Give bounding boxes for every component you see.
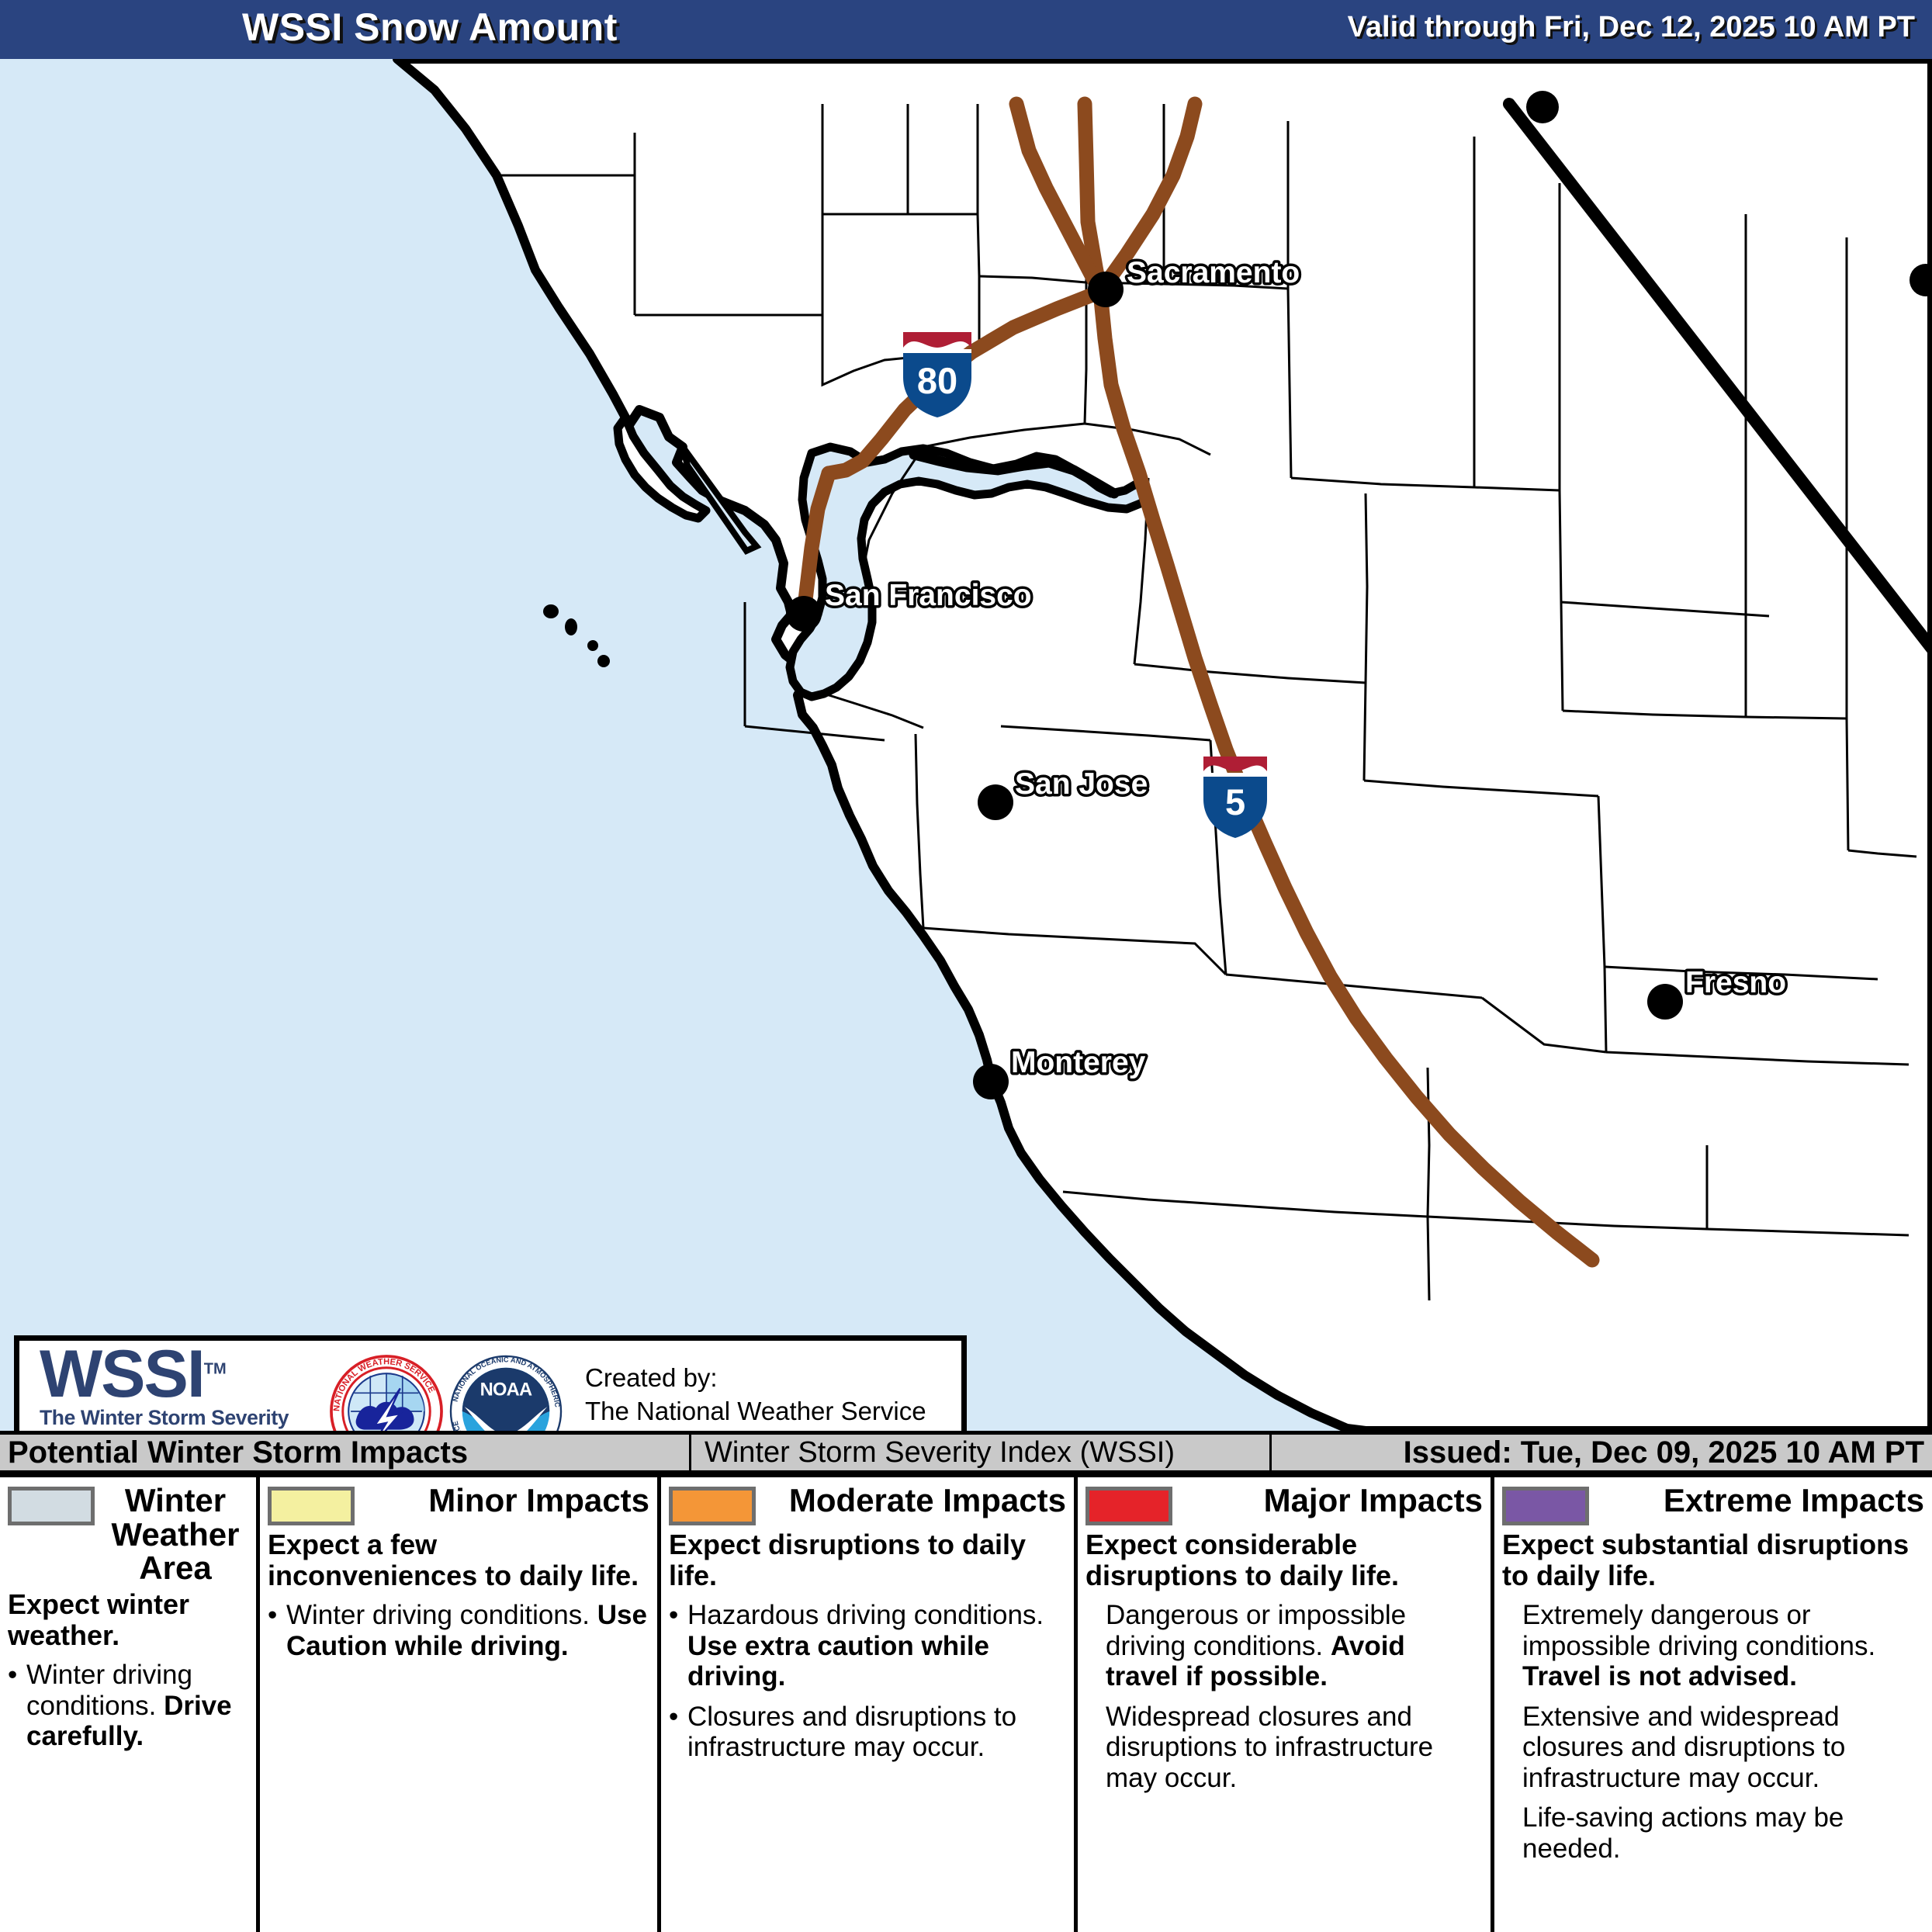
legend-header: Major Impacts xyxy=(1085,1484,1483,1525)
bullet-text: Extensive and widespread closures and di… xyxy=(1522,1702,1924,1794)
bullet-text: Dangerous or impossible driving conditio… xyxy=(1106,1600,1483,1692)
wssi-tagline: The Winter Storm Severity Index xyxy=(40,1406,326,1431)
legend-bullet: Widespread closures and disruptions to i… xyxy=(1085,1702,1483,1794)
created-by-line2: The National Weather Service xyxy=(585,1395,926,1428)
legend-column-winter-weather-area[interactable]: Winter Weather Area Expect winter weathe… xyxy=(0,1477,260,1932)
legend-category-minor-impacts: Minor Impacts xyxy=(362,1484,649,1518)
created-by-credit: Created by: The National Weather Service… xyxy=(585,1362,926,1431)
created-by-line1: Created by: xyxy=(585,1362,926,1395)
legend-column-minor-impacts[interactable]: Minor Impacts Expect a few inconvenience… xyxy=(260,1477,661,1932)
nws-seal-icon: NATIONAL WEATHER SERVICE xyxy=(329,1354,444,1431)
noaa-seal-text: NOAA xyxy=(480,1380,532,1400)
farallon-island-rock xyxy=(565,618,577,635)
bullet-text: Widespread closures and disruptions to i… xyxy=(1106,1702,1483,1794)
bullet-marker: • xyxy=(669,1600,687,1692)
legend-column-extreme-impacts[interactable]: Extreme Impacts Expect substantial disru… xyxy=(1494,1477,1932,1932)
page-title: WSSI Snow Amount xyxy=(242,5,618,50)
wssi-brandmark: WSSITM The Winter Storm Severity Index xyxy=(19,1344,326,1431)
wssi-wordmark: WSSITM xyxy=(40,1344,326,1405)
created-by-line3: Weather Prediction Center xyxy=(585,1428,926,1431)
impacts-title-bar: Potential Winter Storm Impacts Winter St… xyxy=(0,1431,1932,1474)
bullet-plain: Winter driving conditions. xyxy=(286,1600,597,1630)
city-label-san-jose: San Jose xyxy=(1015,767,1148,801)
city-dot-san-francisco[interactable] xyxy=(786,596,822,632)
impacts-bar-left-label: Potential Winter Storm Impacts xyxy=(8,1435,468,1470)
legend-category-extreme-impacts: Extreme Impacts xyxy=(1597,1484,1924,1518)
shield-80-divider xyxy=(903,349,971,353)
bullet-plain: Widespread closures and disruptions to i… xyxy=(1106,1702,1433,1793)
farallon-island-rock xyxy=(597,655,610,667)
bullet-marker: • xyxy=(669,1702,687,1763)
bullet-text: Extremely dangerous or impossible drivin… xyxy=(1522,1600,1924,1692)
city-dot-unlabeled[interactable] xyxy=(1526,91,1559,123)
farallon-island-rock xyxy=(543,604,559,618)
legend-bullet: Extremely dangerous or impossible drivin… xyxy=(1502,1600,1924,1692)
city-dot-sacramento[interactable] xyxy=(1088,272,1124,307)
bullet-text: Winter driving conditions. Use Caution w… xyxy=(286,1600,649,1661)
legend-category-winter-weather-area: Winter Weather Area xyxy=(102,1484,248,1585)
bullet-plain: Extremely dangerous or impossible drivin… xyxy=(1522,1600,1875,1661)
legend-swatch-minor-impacts xyxy=(268,1487,355,1525)
legend-header: Moderate Impacts xyxy=(669,1484,1066,1525)
legend-swatch-moderate-impacts xyxy=(669,1487,756,1525)
legend-summary-winter-weather-area: Expect winter weather. xyxy=(8,1589,248,1650)
legend-summary-moderate-impacts: Expect disruptions to daily life. xyxy=(669,1529,1066,1591)
legend-bullet: Extensive and widespread closures and di… xyxy=(1502,1702,1924,1794)
valid-through-text: Valid through Fri, Dec 12, 2025 10 AM PT xyxy=(1348,11,1915,44)
legend-summary-minor-impacts: Expect a few inconveniences to daily lif… xyxy=(268,1529,649,1591)
legend-header: Minor Impacts xyxy=(268,1484,649,1525)
city-label-san-francisco: San Francisco xyxy=(825,579,1032,612)
bullet-plain: Extensive and widespread closures and di… xyxy=(1522,1702,1845,1793)
bullet-plain: Life-saving actions may be needed. xyxy=(1522,1802,1844,1864)
legend-bullet: Dangerous or impossible driving conditio… xyxy=(1085,1600,1483,1692)
wssi-wordmark-text: WSSI xyxy=(40,1337,204,1411)
bullet-text: Hazardous driving conditions. Use extra … xyxy=(687,1600,1066,1692)
map-canvas[interactable]: Sacramento San Francisco San Jose Fresno… xyxy=(0,59,1932,1431)
impacts-bar-middle-label: Winter Storm Severity Index (WSSI) xyxy=(705,1436,1175,1470)
city-dot-monterey[interactable] xyxy=(973,1064,1009,1099)
bullet-bold: Travel is not advised. xyxy=(1522,1661,1797,1691)
wssi-trademark-symbol: TM xyxy=(204,1360,227,1377)
legend-category-moderate-impacts: Moderate Impacts xyxy=(763,1484,1066,1518)
wssi-logo-box: WSSITM The Winter Storm Severity Index xyxy=(14,1335,967,1431)
legend-summary-major-impacts: Expect considerable disruptions to daily… xyxy=(1085,1529,1483,1591)
impacts-bar-separator-2 xyxy=(1269,1435,1272,1470)
legend-bullet: Life-saving actions may be needed. xyxy=(1502,1802,1924,1864)
city-dot-san-jose[interactable] xyxy=(978,784,1013,820)
page-header: WSSI Snow Amount Valid through Fri, Dec … xyxy=(0,0,1932,59)
legend-column-major-impacts[interactable]: Major Impacts Expect considerable disrup… xyxy=(1078,1477,1494,1932)
bullet-text: Life-saving actions may be needed. xyxy=(1522,1802,1924,1864)
bullet-marker: • xyxy=(8,1660,26,1752)
city-label-monterey: Monterey xyxy=(1011,1046,1146,1079)
shield-80-number: 80 xyxy=(917,360,957,401)
shield-5-divider xyxy=(1203,773,1267,777)
shield-5-number: 5 xyxy=(1225,781,1245,822)
bullet-marker: • xyxy=(268,1600,286,1661)
bullet-plain: Closures and disruptions to infrastructu… xyxy=(687,1702,1016,1763)
legend-summary-extreme-impacts: Expect substantial disruptions to daily … xyxy=(1502,1529,1924,1591)
legend-swatch-extreme-impacts xyxy=(1502,1487,1589,1525)
wssi-snow-amount-page: WSSI Snow Amount Valid through Fri, Dec … xyxy=(0,0,1932,1932)
city-label-sacramento: Sacramento xyxy=(1127,256,1300,289)
city-dot-fresno[interactable] xyxy=(1647,984,1683,1020)
legend-column-moderate-impacts[interactable]: Moderate Impacts Expect disruptions to d… xyxy=(661,1477,1078,1932)
bullet-plain: Hazardous driving conditions. xyxy=(687,1600,1044,1630)
legend-bullet: • Hazardous driving conditions. Use extr… xyxy=(669,1600,1066,1692)
legend-bullet: • Closures and disruptions to infrastruc… xyxy=(669,1702,1066,1763)
impacts-bar-separator-1 xyxy=(689,1435,691,1470)
legend-swatch-winter-weather-area xyxy=(8,1487,95,1525)
legend-header: Winter Weather Area xyxy=(8,1484,248,1585)
legend-category-major-impacts: Major Impacts xyxy=(1180,1484,1483,1518)
bullet-text: Closures and disruptions to infrastructu… xyxy=(687,1702,1066,1763)
impacts-bar-issued-label: Issued: Tue, Dec 09, 2025 10 AM PT xyxy=(1404,1435,1924,1470)
impacts-legend: Winter Weather Area Expect winter weathe… xyxy=(0,1474,1932,1932)
city-label-fresno: Fresno xyxy=(1685,966,1786,999)
farallon-island-rock xyxy=(587,640,598,651)
legend-swatch-major-impacts xyxy=(1085,1487,1172,1525)
bullet-bold: Use extra caution while driving. xyxy=(687,1631,989,1692)
map-graphic[interactable]: Sacramento San Francisco San Jose Fresno… xyxy=(0,59,1932,1431)
agency-seals: NATIONAL WEATHER SERVICE NOAA xyxy=(329,1354,563,1431)
noaa-seal-icon: NOAA NATIONAL OCEANIC AND ATMOSPHERIC AD… xyxy=(448,1354,563,1431)
legend-header: Extreme Impacts xyxy=(1502,1484,1924,1525)
legend-bullet: • Winter driving conditions. Drive caref… xyxy=(8,1660,248,1752)
bullet-text: Winter driving conditions. Drive careful… xyxy=(26,1660,248,1752)
legend-bullet: • Winter driving conditions. Use Caution… xyxy=(268,1600,649,1661)
